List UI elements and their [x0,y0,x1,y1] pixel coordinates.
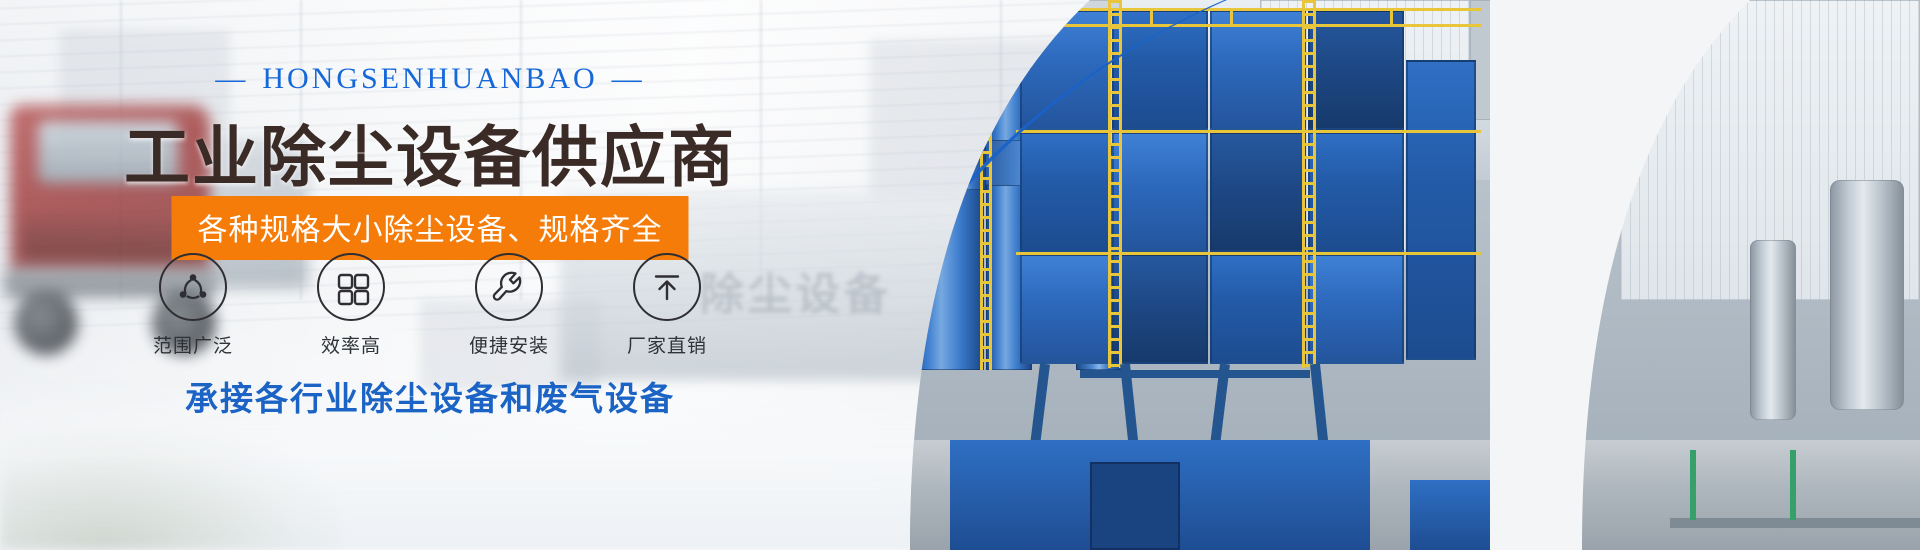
handrail-post [1390,8,1393,26]
eyebrow-dash-left: — [215,62,248,96]
baghouse-module [1406,60,1476,360]
eyebrow-line: —HONGSENHUANBAO— [0,62,860,96]
baghouse-module [1210,254,1306,364]
feature-label: 效率高 [296,331,406,358]
baghouse-module [1210,132,1306,252]
grey-tank [1750,240,1796,420]
baghouse-module [1020,132,1110,252]
handrail-post [1150,8,1153,26]
baghouse-module [1308,132,1404,252]
eyebrow-dash-right: — [612,62,645,96]
handrail [1016,252,1481,255]
baghouse-module [1112,132,1208,252]
share-nodes-icon [159,253,227,321]
handrail [1016,8,1481,11]
feature-item-factory-direct[interactable]: 厂家直销 [612,253,722,358]
feature-label: 便捷安装 [454,331,564,358]
green-post [1690,450,1696,520]
baghouse-module [1308,254,1404,364]
baghouse-module [1308,10,1404,130]
green-post [1790,450,1796,520]
handrail [1016,130,1481,133]
feature-list: 范围广泛 效率高 [0,253,860,358]
upload-arrow-icon [633,253,701,321]
eyebrow-text: HONGSENHUANBAO [262,62,597,95]
access-ladder [1108,0,1122,368]
feature-item-wide-range[interactable]: 范围广泛 [138,253,248,358]
grid-squares-icon [317,253,385,321]
support-beam [1080,370,1310,378]
baghouse-module [1112,10,1208,130]
wrench-icon [475,253,543,321]
promo-banner: 除尘设备 [0,0,1920,550]
baghouse-module [1112,254,1208,364]
feature-label: 厂家直销 [612,331,722,358]
feature-item-easy-install[interactable]: 便捷安装 [454,253,564,358]
feature-label: 范围广泛 [138,331,248,358]
access-door [1090,462,1180,550]
handrail [1016,24,1481,27]
headline: 工业除尘设备供应商 [0,104,860,200]
banner-content: —HONGSENHUANBAO— 工业除尘设备供应商 各种规格大小除尘设备、规格… [0,0,860,550]
grey-tank [1830,180,1904,410]
orange-subtitle-bar: 各种规格大小除尘设备、规格齐全 [172,196,689,260]
baghouse-module [1210,10,1306,130]
baghouse-module [1020,254,1110,364]
feature-item-high-efficiency[interactable]: 效率高 [296,253,406,358]
tagline: 承接各行业除尘设备和废气设备 [0,372,860,420]
access-ladder [1302,0,1316,368]
handrail-post [1230,8,1233,26]
